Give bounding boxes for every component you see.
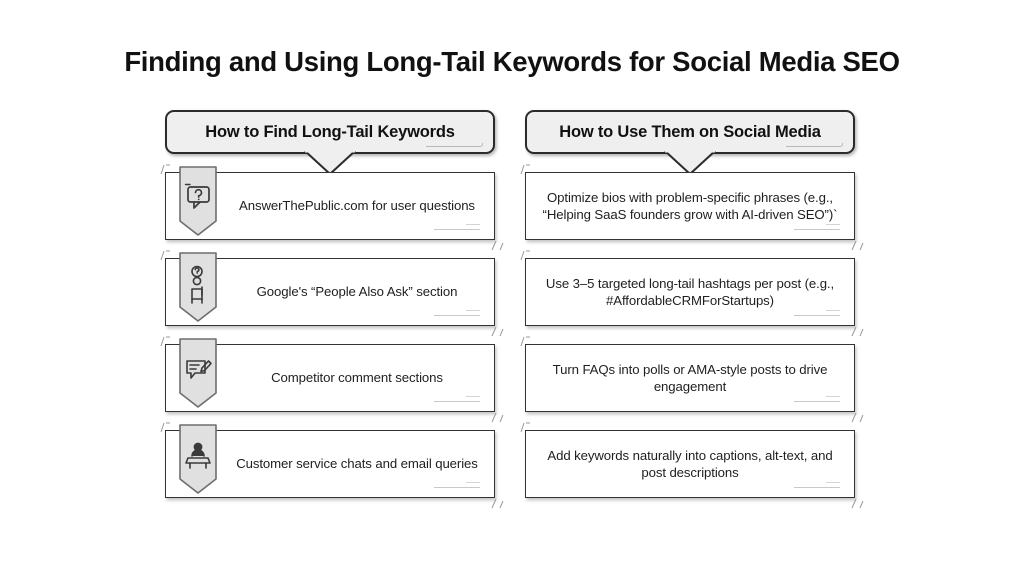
card-label: Use 3–5 targeted long-tail hashtags per …: [542, 275, 838, 310]
corner-tick-icon: [519, 422, 533, 434]
header-label: How to Find Long-Tail Keywords: [205, 123, 454, 142]
header-label: How to Use Them on Social Media: [559, 123, 821, 142]
card-flourish: [434, 225, 480, 230]
card-flourish: [794, 397, 840, 402]
corner-tick-icon: [848, 410, 868, 424]
card-flourish: [794, 311, 840, 316]
card-use-2[interactable]: Use 3–5 targeted long-tail hashtags per …: [525, 258, 855, 326]
corner-tick-icon: [488, 496, 508, 510]
card-use-4[interactable]: Add keywords naturally into captions, al…: [525, 430, 855, 498]
corner-tick-icon: [519, 164, 533, 176]
card-flourish: [794, 225, 840, 230]
card-label: Customer service chats and email queries: [234, 455, 480, 472]
icon-banner-comment-pencil: [178, 337, 218, 409]
corner-tick-icon: [488, 410, 508, 424]
card-find-1[interactable]: AnswerThePublic.com for user questions: [165, 172, 495, 240]
icon-banner-person-with-question: [178, 251, 218, 323]
card-label: Add keywords naturally into captions, al…: [542, 447, 838, 482]
corner-tick-icon: [159, 250, 173, 262]
card-label: AnswerThePublic.com for user questions: [234, 197, 480, 214]
card-use-3[interactable]: Turn FAQs into polls or AMA-style posts …: [525, 344, 855, 412]
card-find-4[interactable]: Customer service chats and email queries: [165, 430, 495, 498]
corner-tick-icon: [159, 336, 173, 348]
bubble-flourish: [786, 143, 843, 147]
card-flourish: [434, 483, 480, 488]
icon-banner-support-agent-desk: [178, 423, 218, 495]
icon-banner-question-speech-bubble: [178, 165, 218, 237]
corner-tick-icon: [488, 238, 508, 252]
card-flourish: [434, 397, 480, 402]
card-label: Turn FAQs into polls or AMA-style posts …: [542, 361, 838, 396]
card-use-1[interactable]: Optimize bios with problem-specific phra…: [525, 172, 855, 240]
card-label: Google's “People Also Ask” section: [234, 283, 480, 300]
column-find-keywords: How to Find Long-Tail Keywords AnswerThe…: [165, 110, 495, 498]
card-label: Optimize bios with problem-specific phra…: [542, 189, 838, 224]
corner-tick-icon: [848, 238, 868, 252]
corner-tick-icon: [848, 324, 868, 338]
card-flourish: [794, 483, 840, 488]
card-find-3[interactable]: Competitor comment sections: [165, 344, 495, 412]
corner-tick-icon: [519, 250, 533, 262]
header-bubble-use-on-social: How to Use Them on Social Media: [525, 110, 855, 154]
bubble-flourish: [426, 143, 483, 147]
corner-tick-icon: [488, 324, 508, 338]
header-bubble-find-keywords: How to Find Long-Tail Keywords: [165, 110, 495, 154]
corner-tick-icon: [519, 336, 533, 348]
column-use-on-social: How to Use Them on Social Media Optimize…: [525, 110, 855, 498]
page-title: Finding and Using Long-Tail Keywords for…: [0, 46, 1024, 78]
corner-tick-icon: [159, 164, 173, 176]
corner-tick-icon: [159, 422, 173, 434]
corner-tick-icon: [848, 496, 868, 510]
card-flourish: [434, 311, 480, 316]
card-label: Competitor comment sections: [234, 369, 480, 386]
card-find-2[interactable]: Google's “People Also Ask” section: [165, 258, 495, 326]
